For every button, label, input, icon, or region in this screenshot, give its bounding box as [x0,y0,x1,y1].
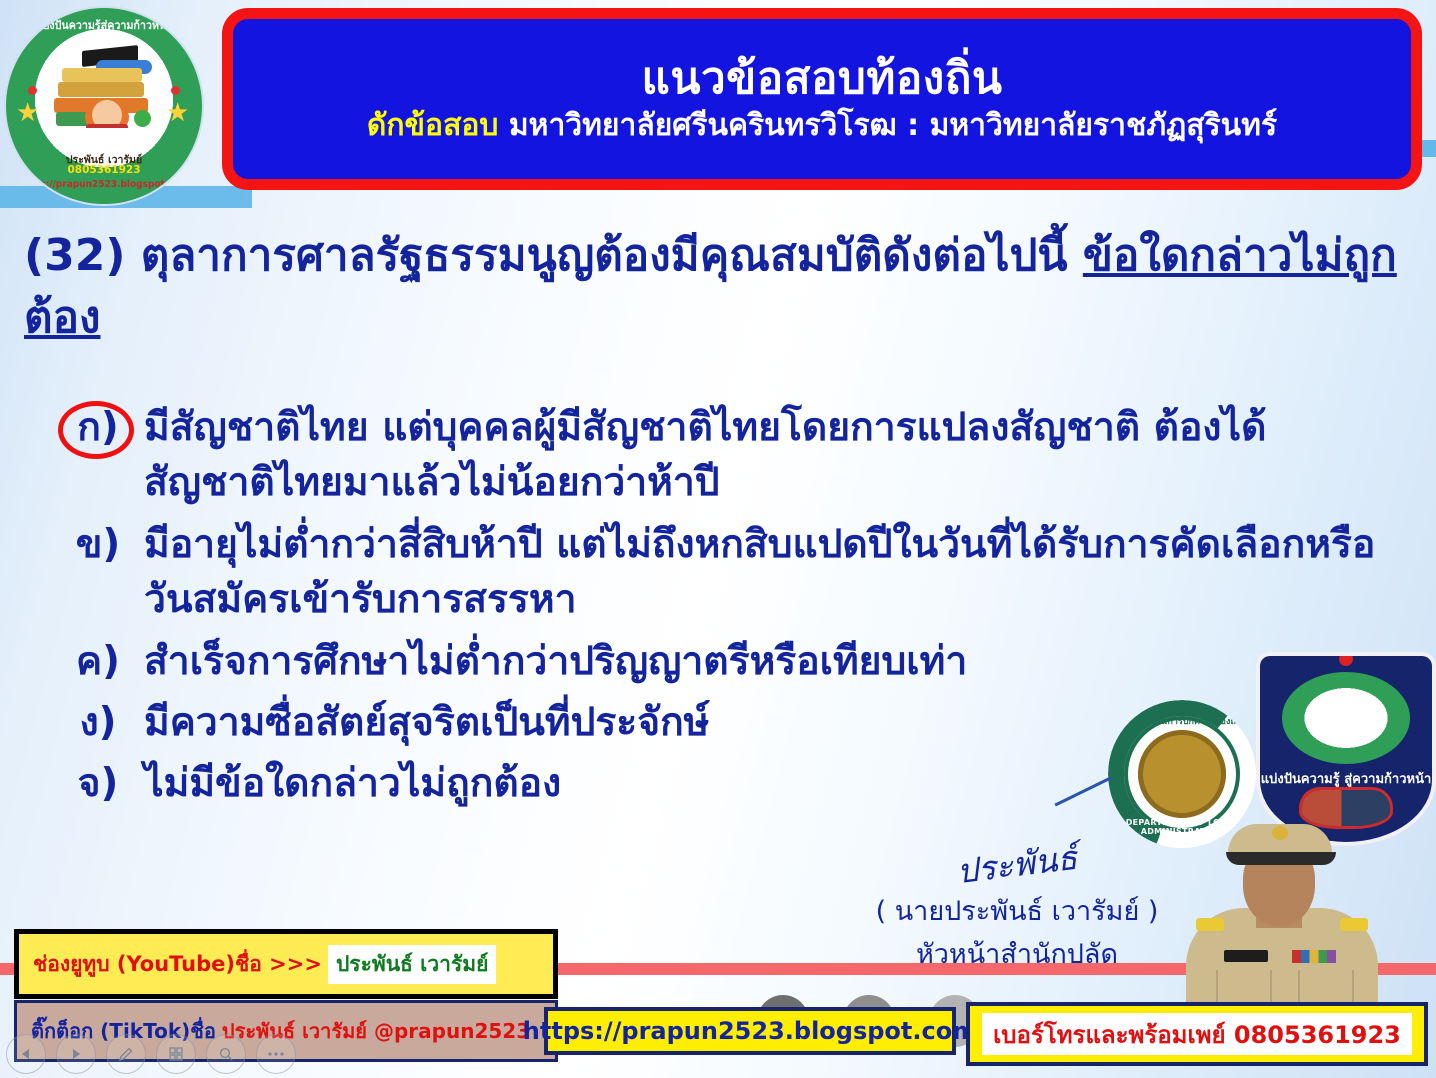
previous-slide-icon[interactable] [6,1034,46,1074]
youtube-info-box: ช่องยูทูบ (YouTube)ชื่อ >>> ประพันธ์ เวา… [14,929,558,999]
question-text: (32) ตุลาการศาลรัฐธรรมนูญต้องมีคุณสมบัติ… [24,225,1414,350]
logo-phone: 0805361923 [6,164,202,176]
book-gold [58,82,144,97]
page-title: แนวข้อสอบท้องถิ่น [642,55,1003,103]
blog-url-box[interactable]: https://prapun2523.blogspot.com [544,1007,956,1055]
slide-canvas: แบ่งปันความรู้สู่ความก้าวหน้า ★ ★ ประพัน… [0,0,1436,1078]
next-slide-icon[interactable] [56,1034,96,1074]
option-text-ka: มีสัญชาติไทย แต่บุคคลผู้มีสัญชาติไทยโดยก… [144,400,1392,511]
brand-logo-icon: แบ่งปันความรู้สู่ความก้าวหน้า ★ ★ ประพัน… [6,8,202,204]
pen-tool-icon[interactable] [106,1034,146,1074]
signature-block: ประพันธ์ ( นายประพันธ์ เวารัมย์ ) หัวหน้… [852,838,1182,975]
phone-text: เบอร์โทรและพร้อมเพย์ 0805361923 [982,1013,1412,1055]
header-banner: แนวข้อสอบท้องถิ่น ดักข้อสอบ มหาวิทยาลัยศ… [222,8,1422,190]
more-options-icon[interactable] [256,1034,296,1074]
officer-cap-badge [1272,826,1288,840]
signature-role: หัวหน้าสำนักปลัด [852,932,1182,975]
all-slides-grid-icon[interactable] [156,1034,196,1074]
dla-label-thai: กรมส่งเสริมการปกครองท้องถิ่น [1108,714,1256,728]
book-light [62,68,142,82]
slideshow-nav-bar[interactable] [6,1034,296,1074]
officer-ribbon-bar [1292,950,1336,963]
answer-option-kho[interactable]: ข) มีอายุไม่ต่ำกว่าสี่สิบห้าปี แต่ไม่ถึง… [52,517,1392,628]
header-subtitle-highlight: ดักข้อสอบ [367,108,499,143]
question-body: ตุลาการศาลรัฐธรรมนูญต้องมีคุณสมบัติดังต่… [125,230,1082,281]
officer-cap-brim [1226,852,1336,865]
officer-epaulet-right [1340,918,1368,931]
student-body-icon [86,124,128,148]
option-text-kho2: สำเร็จการศึกษาไม่ต่ำกว่าปริญญาตรีหรือเที… [144,634,1392,689]
shield-badge-icon: แบ่งปันความรู้ สู่ความก้าวหน้า [1256,652,1436,846]
header-subtitle: ดักข้อสอบ มหาวิทยาลัยศรีนครินทรวิโรฒ : ม… [367,109,1277,144]
answer-option-ka[interactable]: ก) มีสัญชาติไทย แต่บุคคลผู้มีสัญชาติไทยโ… [52,400,1392,511]
shield-photo-icon [1302,790,1390,826]
option-label-kho2: ค) [52,634,144,689]
question-number: (32) [24,230,125,281]
logo-dot-left [28,86,37,95]
youtube-label: ช่องยูทูบ (YouTube)ชื่อ >>> [33,948,322,981]
option-label-cho: จ) [52,756,144,811]
officer-epaulet-left [1196,918,1224,931]
youtube-channel-name: ประพันธ์ เวารัมย์ [328,945,496,984]
option-label-ka: ก) [52,400,144,455]
header-subtitle-rest: มหาวิทยาลัยศรีนครินทรวิโรฒ : มหาวิทยาลัย… [509,108,1277,143]
apple-icon [134,110,151,127]
book-green [56,112,90,126]
logo-dot-right [171,86,180,95]
shield-heart-icon [1339,652,1353,666]
shield-emblem-icon [1282,672,1410,764]
option-label-ngo: ง) [52,695,144,750]
zoom-tool-icon[interactable] [206,1034,246,1074]
option-text-kho: มีอายุไม่ต่ำกว่าสี่สิบห้าปี แต่ไม่ถึงหกส… [144,517,1392,628]
answer-option-kho2[interactable]: ค) สำเร็จการศึกษาไม่ต่ำกว่าปริญญาตรีหรือ… [52,634,1392,689]
logo-books-icon [52,48,156,144]
logo-motto: แบ่งปันความรู้สู่ความก้าวหน้า [13,17,195,35]
phone-info-box: เบอร์โทรและพร้อมเพย์ 0805361923 [966,1002,1428,1066]
logo-url: https://prapun2523.blogspot.com [16,179,192,190]
shield-motto-text: แบ่งปันความรู้ สู่ความก้าวหน้า [1260,768,1432,789]
officer-nametag [1224,950,1268,962]
option-label-kho: ข) [52,517,144,572]
